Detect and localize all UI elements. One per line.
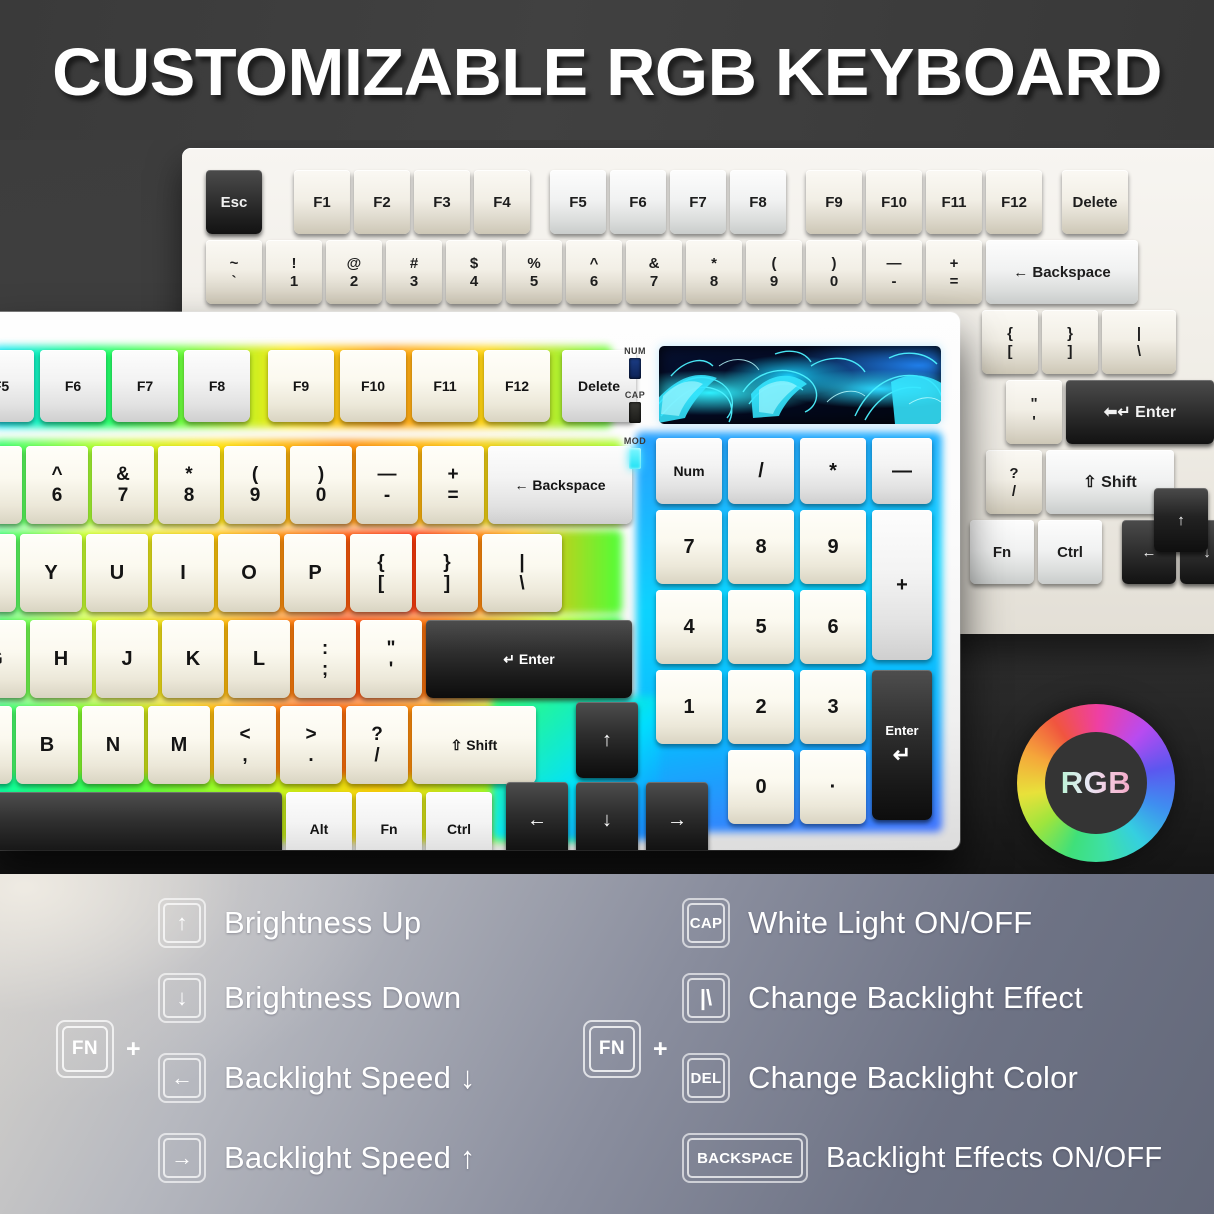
key-legend-top: @: [347, 256, 362, 271]
fn-key-right: FN: [583, 1020, 641, 1078]
front-key-enter: ↵ Enter: [426, 620, 632, 698]
numpad-key-num: Num: [656, 438, 722, 504]
front-key-rbracket: } ]: [416, 534, 478, 612]
key-legend-bottom: `: [232, 274, 237, 289]
back-key-esc: Esc: [206, 170, 262, 234]
indicator-num: NUM: [618, 346, 652, 379]
indicator-label: CAP: [618, 390, 652, 400]
numpad-key-6: 6: [800, 590, 866, 664]
key-legend-bottom: /: [374, 746, 379, 765]
front-key-9: ( 9: [224, 446, 286, 524]
front-key-equals: + =: [422, 446, 484, 524]
front-key-comma: < ,: [214, 706, 276, 784]
front-key-backspace: ← Backspace: [488, 446, 632, 524]
legend-row-effects-onoff: BACKSPACE Backlight Effects ON/OFF: [682, 1133, 1162, 1183]
numpad-key-0: 0: [728, 750, 794, 824]
key-legend-bottom: ,: [242, 746, 247, 765]
front-key-shift: ⇧ Shift: [412, 706, 536, 784]
front-key-backslash: | \: [482, 534, 562, 612]
key-legend-bottom: =: [950, 274, 959, 289]
back-key-0: ) 0: [806, 240, 862, 304]
front-key-6: ^ 6: [26, 446, 88, 524]
front-key-i: I: [152, 534, 214, 612]
key-legend-top: (: [772, 256, 777, 271]
key-legend-bottom: [: [1008, 344, 1013, 359]
numpad-key-4: 4: [656, 590, 722, 664]
back-home-row: " ' ⬅︎↵ Enter: [1006, 380, 1214, 444]
key-legend-top: :: [322, 639, 328, 658]
front-key-alt: Alt: [286, 792, 352, 850]
legend-row-white-light: CAP White Light ON/OFF: [682, 898, 1032, 948]
front-key-l: L: [228, 620, 290, 698]
key-legend-top: +: [950, 256, 959, 271]
numpad-enter-label: Enter: [885, 723, 918, 738]
indicator-label: NUM: [618, 346, 652, 356]
front-key-o: O: [218, 534, 280, 612]
legend-row-brightness-up: ↑ Brightness Up: [158, 898, 421, 948]
key-legend-bottom: 5: [530, 274, 538, 289]
key-legend-bottom: 0: [830, 274, 838, 289]
front-key-ctrl: Ctrl: [426, 792, 492, 850]
front-key-slash: ? /: [346, 706, 408, 784]
back-key-f7: F7: [670, 170, 726, 234]
key-legend-top: (: [252, 465, 258, 484]
fn-key-left: FN: [56, 1020, 114, 1078]
indicator-led: [629, 402, 641, 423]
legend-row-backlight-speed-down: ← Backlight Speed ↓: [158, 1053, 476, 1103]
back-bracket-row: { [ } ] | \: [982, 310, 1214, 374]
key-glyph: CAP: [687, 903, 725, 943]
legend-label: Change Backlight Effect: [748, 980, 1083, 1016]
key-legend-bottom: -: [384, 486, 390, 505]
front-key-5: [0, 446, 22, 524]
pipe-slash-key-icon: |\: [682, 973, 730, 1023]
backspace-key-icon: BACKSPACE: [682, 1133, 808, 1183]
numpad-key-2: 2: [728, 670, 794, 744]
key-legend-top: <: [239, 725, 250, 744]
key-legend-top: |: [519, 553, 524, 572]
front-key-f9: F9: [268, 350, 334, 422]
wave-art-display: [659, 346, 941, 424]
back-key-f10: F10: [866, 170, 922, 234]
key-legend-bottom: 2: [350, 274, 358, 289]
key-legend-bottom: [: [378, 574, 384, 593]
key-legend-bottom: 8: [184, 486, 195, 505]
back-key-rbracket: } ]: [1042, 310, 1098, 374]
key-legend-top: {: [377, 553, 384, 572]
legend-row-change-effect: |\ Change Backlight Effect: [682, 973, 1083, 1023]
legend-label: Change Backlight Color: [748, 1060, 1078, 1096]
numpad-key-1: 1: [656, 670, 722, 744]
key-legend-bottom: 9: [770, 274, 778, 289]
plus-symbol-right: +: [653, 1035, 668, 1064]
back-key-enter: ⬅︎↵ Enter: [1066, 380, 1214, 444]
key-legend-bottom: 6: [590, 274, 598, 289]
key-legend-bottom: 8: [710, 274, 718, 289]
front-key-arrow-left: ←: [506, 782, 568, 850]
back-key-f8: F8: [730, 170, 786, 234]
front-key-t: T: [0, 534, 16, 612]
front-key-minus: — -: [356, 446, 418, 524]
back-key-fn: Fn: [970, 520, 1034, 584]
key-legend-top: }: [1067, 326, 1073, 341]
plus-symbol-left: +: [126, 1035, 141, 1064]
front-key-quote: " ': [360, 620, 422, 698]
legend-label: Backlight Speed ↑: [224, 1140, 476, 1176]
front-key-f8: F8: [184, 350, 250, 422]
fn-key-label: FN: [62, 1026, 108, 1072]
key-legend-top: *: [185, 465, 192, 484]
front-key-arrow-right: →: [646, 782, 708, 850]
back-key-f12: F12: [986, 170, 1042, 234]
key-legend-bottom: ': [389, 660, 394, 679]
key-glyph: BACKSPACE: [687, 1138, 803, 1178]
key-legend-top: ": [1030, 396, 1037, 411]
front-key-g: G: [0, 620, 26, 698]
indicator-led: [629, 448, 641, 469]
key-legend-top: ^: [590, 256, 599, 271]
indicator-cap: CAP: [618, 390, 652, 423]
key-legend-top: +: [447, 465, 458, 484]
back-key-9: ( 9: [746, 240, 802, 304]
key-legend-top: *: [711, 256, 717, 271]
key-legend-top: ~: [230, 256, 239, 271]
key-legend-top: }: [443, 553, 450, 572]
numpad-key-plus: +: [872, 510, 932, 660]
back-number-row: ~ ` ! 1 @ 2 # 3 $ 4 % 5: [206, 240, 1214, 304]
arrow-right-key-icon: →: [158, 1133, 206, 1183]
key-legend-top: #: [410, 256, 418, 271]
front-key-space: [0, 792, 282, 850]
page-title: CUSTOMIZABLE RGB KEYBOARD: [0, 34, 1214, 111]
back-key-1: ! 1: [266, 240, 322, 304]
key-legend-top: ?: [1009, 466, 1018, 481]
front-key-n: N: [82, 706, 144, 784]
back-key-backslash: | \: [1102, 310, 1176, 374]
back-key-f5: F5: [550, 170, 606, 234]
key-legend-bottom: .: [308, 746, 313, 765]
key-legend-top: {: [1007, 326, 1013, 341]
back-key-ctrl: Ctrl: [1038, 520, 1102, 584]
key-legend-bottom: ': [1032, 414, 1036, 429]
front-key-arrow-down: ↓: [576, 782, 638, 850]
key-legend-top: |: [1137, 326, 1141, 341]
rgb-badge: RGB: [1017, 704, 1175, 862]
front-key-period: > .: [280, 706, 342, 784]
legend-row-brightness-down: ↓ Brightness Down: [158, 973, 461, 1023]
numpad-key-decimal: ·: [800, 750, 866, 824]
front-key-j: J: [96, 620, 158, 698]
back-key-minus: — -: [866, 240, 922, 304]
front-key-f12: F12: [484, 350, 550, 422]
key-legend-top: ": [386, 639, 395, 658]
indicator-led: [629, 358, 641, 379]
front-key-f7: F7: [112, 350, 178, 422]
arrow-down-key-icon: ↓: [158, 973, 206, 1023]
front-key-p: P: [284, 534, 346, 612]
key-legend-bottom: =: [447, 486, 458, 505]
back-function-row: Esc F1 F2 F3 F4 F5 F6 F7 F8 F9 F10 F11 F…: [206, 170, 1214, 234]
legend-label: Backlight Speed ↓: [224, 1060, 476, 1096]
front-key-m: M: [148, 706, 210, 784]
key-legend-top: !: [292, 256, 297, 271]
indicator-label: MOD: [618, 436, 652, 446]
numpad-key-enter: Enter ↵: [872, 670, 932, 820]
key-legend-top: >: [305, 725, 316, 744]
back-key-lbracket: { [: [982, 310, 1038, 374]
legend-label: Backlight Effects ON/OFF: [826, 1142, 1162, 1175]
key-legend-bottom: \: [1137, 344, 1141, 359]
front-key-u: U: [86, 534, 148, 612]
arrow-left-key-icon: ←: [158, 1053, 206, 1103]
front-key-k: K: [162, 620, 224, 698]
arrow-up-key-icon: ↑: [158, 898, 206, 948]
key-legend-bottom: 1: [290, 274, 298, 289]
key-legend-top: &: [116, 465, 130, 484]
back-key-3: # 3: [386, 240, 442, 304]
key-legend-top: ?: [371, 725, 383, 744]
key-legend-bottom: 3: [410, 274, 418, 289]
front-key-b: B: [16, 706, 78, 784]
front-key-f5: F5: [0, 350, 34, 422]
rgb-badge-center: RGB: [1045, 732, 1147, 834]
indicator-mod: MOD: [618, 436, 652, 469]
key-glyph: ←: [163, 1058, 201, 1098]
back-key-slash: ? /: [986, 450, 1042, 514]
legend-row-backlight-speed-up: → Backlight Speed ↑: [158, 1133, 476, 1183]
key-legend-bottom: 7: [650, 274, 658, 289]
back-key-4: $ 4: [446, 240, 502, 304]
front-key-0: ) 0: [290, 446, 352, 524]
header-band: CUSTOMIZABLE RGB KEYBOARD: [0, 0, 1214, 140]
cap-key-icon: CAP: [682, 898, 730, 948]
key-glyph: ↑: [163, 903, 201, 943]
front-rgb-keyboard: NUM CAP MOD F5 F6 F7 F8 F9 F10 F11 F12 D…: [0, 312, 960, 850]
front-key-8: * 8: [158, 446, 220, 524]
front-key-f6: F6: [40, 350, 106, 422]
key-legend-top: &: [649, 256, 660, 271]
numpad-key-multiply: *: [800, 438, 866, 504]
key-legend-bottom: 7: [118, 486, 129, 505]
key-glyph: |\: [687, 978, 725, 1018]
key-legend-top: ^: [51, 465, 62, 484]
back-key-f6: F6: [610, 170, 666, 234]
key-legend-top: %: [527, 256, 540, 271]
front-key-semicolon: : ;: [294, 620, 356, 698]
front-key-h: H: [30, 620, 92, 698]
numpad-key-7: 7: [656, 510, 722, 584]
legend-label: Brightness Down: [224, 980, 461, 1016]
key-glyph: →: [163, 1138, 201, 1178]
back-key-8: * 8: [686, 240, 742, 304]
front-key-f11: F11: [412, 350, 478, 422]
key-glyph: DEL: [687, 1058, 725, 1098]
back-key-5: % 5: [506, 240, 562, 304]
key-legend-bottom: 4: [470, 274, 478, 289]
front-key-7: & 7: [92, 446, 154, 524]
key-glyph: ↓: [163, 978, 201, 1018]
numpad-key-minus: —: [872, 438, 932, 504]
back-key-2: @ 2: [326, 240, 382, 304]
front-key-fn: Fn: [356, 792, 422, 850]
key-legend-bottom: 6: [52, 486, 63, 505]
key-legend-bottom: -: [892, 274, 897, 289]
key-legend-bottom: ]: [1068, 344, 1073, 359]
front-key-lbracket: { [: [350, 534, 412, 612]
back-key-f2: F2: [354, 170, 410, 234]
back-key-6: ^ 6: [566, 240, 622, 304]
key-legend-bottom: 9: [250, 486, 261, 505]
back-key-tilde: ~ `: [206, 240, 262, 304]
legend-label: Brightness Up: [224, 905, 421, 941]
back-key-arrow-up: ↑: [1154, 488, 1208, 552]
key-legend-bottom: ]: [444, 574, 450, 593]
back-key-f11: F11: [926, 170, 982, 234]
rgb-badge-label: RGB: [1061, 765, 1131, 801]
key-legend-top: ): [318, 465, 324, 484]
key-legend-bottom: /: [1012, 484, 1016, 499]
key-legend-top: —: [887, 256, 902, 271]
numpad-key-3: 3: [800, 670, 866, 744]
back-key-equals: + =: [926, 240, 982, 304]
back-key-quote: " ': [1006, 380, 1062, 444]
numpad-key-8: 8: [728, 510, 794, 584]
back-key-backspace: ← Backspace: [986, 240, 1138, 304]
key-legend-bottom: \: [519, 574, 524, 593]
key-legend-top: ): [832, 256, 837, 271]
key-legend-bottom: ;: [322, 660, 328, 679]
back-key-f1: F1: [294, 170, 350, 234]
front-key-v: [0, 706, 12, 784]
back-key-f9: F9: [806, 170, 862, 234]
enter-arrow-icon: ↵: [893, 742, 911, 768]
front-key-arrow-up: ↑: [576, 702, 638, 778]
front-key-y: Y: [20, 534, 82, 612]
back-key-f3: F3: [414, 170, 470, 234]
front-key-f10: F10: [340, 350, 406, 422]
numpad-key-divide: /: [728, 438, 794, 504]
numpad-key-9: 9: [800, 510, 866, 584]
legend-label: White Light ON/OFF: [748, 905, 1032, 941]
back-key-f4: F4: [474, 170, 530, 234]
back-key-7: & 7: [626, 240, 682, 304]
delete-key-icon: DEL: [682, 1053, 730, 1103]
key-legend-top: $: [470, 256, 478, 271]
fn-key-label: FN: [589, 1026, 635, 1072]
numpad-key-5: 5: [728, 590, 794, 664]
back-key-delete: Delete: [1062, 170, 1128, 234]
key-legend-bottom: 0: [316, 486, 327, 505]
legend-row-change-color: DEL Change Backlight Color: [682, 1053, 1078, 1103]
key-legend-top: —: [378, 465, 397, 484]
